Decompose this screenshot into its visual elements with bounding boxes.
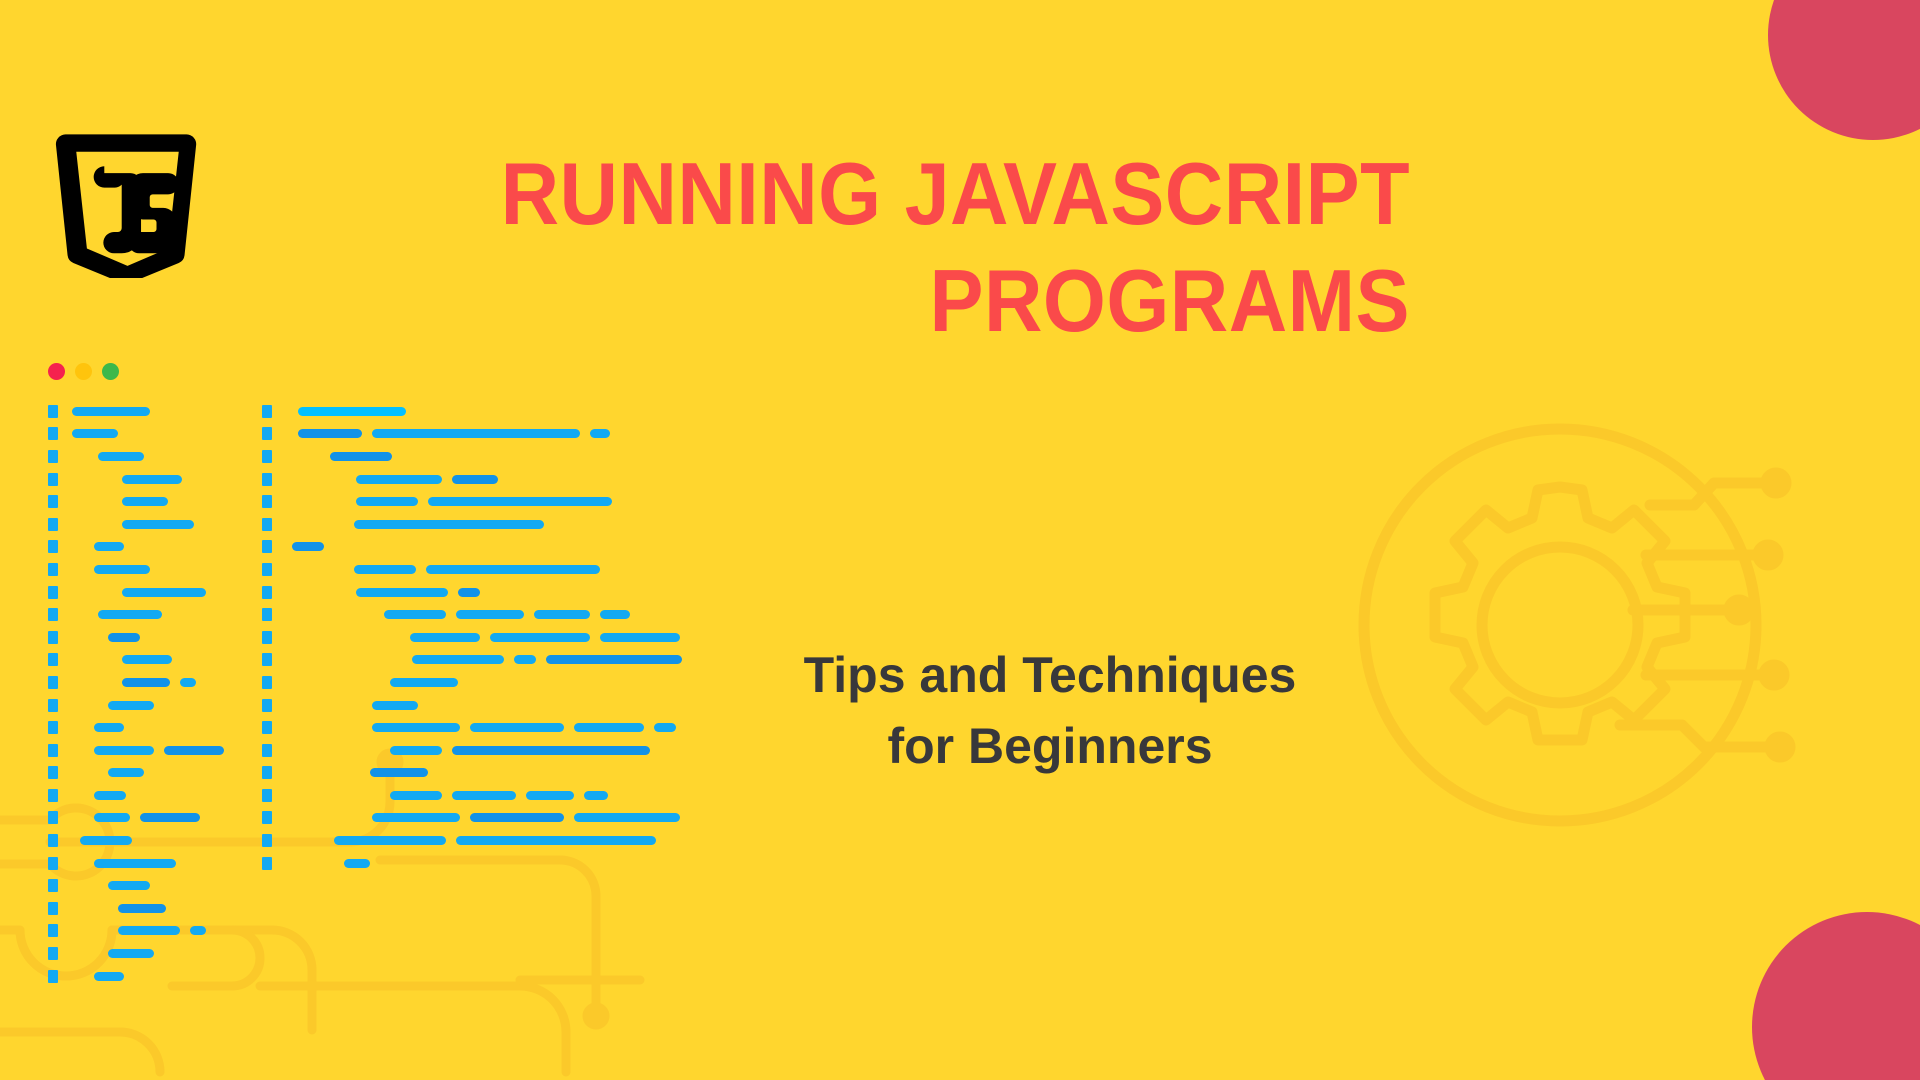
- line-number-tick: [48, 653, 58, 666]
- poster-canvas: RUNNING JAVASCRIPT PROGRAMS Tips and Tec…: [0, 0, 1920, 1080]
- close-dot: [48, 363, 65, 380]
- code-line: [48, 784, 268, 807]
- code-line: [48, 671, 268, 694]
- code-token: [370, 768, 428, 777]
- code-line: [262, 671, 732, 694]
- code-token: [356, 475, 442, 484]
- code-line: [262, 784, 732, 807]
- gear-circuit-watermark: [1350, 395, 1810, 855]
- code-line: [48, 513, 268, 536]
- code-token: [122, 475, 182, 484]
- code-line: [48, 965, 268, 988]
- code-token: [452, 746, 650, 755]
- code-line: [262, 626, 732, 649]
- line-number-tick: [262, 405, 272, 418]
- code-token: [98, 452, 144, 461]
- code-token: [298, 429, 362, 438]
- line-number-tick: [48, 879, 58, 892]
- code-line: [48, 874, 268, 897]
- code-token: [574, 723, 644, 732]
- line-number-tick: [262, 766, 272, 779]
- code-token: [470, 723, 564, 732]
- code-token: [654, 723, 676, 732]
- code-token: [526, 791, 574, 800]
- line-number-tick: [48, 766, 58, 779]
- line-number-tick: [262, 495, 272, 508]
- line-number-tick: [262, 857, 272, 870]
- code-token: [590, 429, 610, 438]
- code-line: [262, 400, 732, 423]
- line-number-tick: [262, 744, 272, 757]
- code-token: [122, 655, 172, 664]
- line-number-tick: [48, 947, 58, 960]
- code-token: [372, 813, 460, 822]
- line-number-tick: [48, 427, 58, 440]
- line-number-tick: [262, 699, 272, 712]
- line-number-tick: [48, 744, 58, 757]
- code-line: [48, 649, 268, 672]
- code-token: [94, 859, 176, 868]
- code-token: [334, 836, 446, 845]
- code-line: [262, 536, 732, 559]
- code-token: [390, 746, 442, 755]
- line-number-tick: [262, 518, 272, 531]
- code-token: [122, 678, 170, 687]
- code-token: [356, 497, 418, 506]
- title-line-2: PROGRAMS: [389, 247, 1410, 354]
- code-token: [94, 813, 130, 822]
- code-column-right: [262, 400, 732, 874]
- code-token: [292, 542, 324, 551]
- code-token: [574, 813, 680, 822]
- line-number-tick: [262, 834, 272, 847]
- top-right-circle: [1768, 0, 1920, 140]
- line-number-tick: [48, 699, 58, 712]
- code-line: [262, 490, 732, 513]
- line-number-tick: [48, 789, 58, 802]
- code-line: [262, 762, 732, 785]
- line-number-tick: [48, 495, 58, 508]
- code-token: [384, 610, 446, 619]
- subtitle-line-2: for Beginners: [700, 711, 1400, 782]
- poster-title: RUNNING JAVASCRIPT PROGRAMS: [300, 140, 1410, 355]
- code-token: [94, 542, 124, 551]
- code-token: [80, 836, 132, 845]
- code-token: [108, 881, 150, 890]
- line-number-tick: [48, 563, 58, 576]
- code-token: [354, 520, 544, 529]
- code-token: [426, 565, 600, 574]
- line-number-tick: [48, 473, 58, 486]
- code-token: [190, 926, 206, 935]
- code-token: [94, 746, 154, 755]
- code-line: [48, 603, 268, 626]
- code-line: [48, 490, 268, 513]
- code-token: [456, 610, 524, 619]
- line-number-tick: [262, 721, 272, 734]
- maximize-dot: [102, 363, 119, 380]
- line-number-tick: [262, 608, 272, 621]
- code-token: [330, 452, 392, 461]
- line-number-tick: [262, 811, 272, 824]
- code-token: [122, 588, 206, 597]
- line-number-tick: [262, 789, 272, 802]
- code-token: [344, 859, 370, 868]
- code-token: [180, 678, 196, 687]
- code-line: [48, 716, 268, 739]
- code-line: [48, 423, 268, 446]
- code-line: [48, 852, 268, 875]
- code-line: [48, 400, 268, 423]
- line-number-tick: [48, 834, 58, 847]
- line-number-tick: [48, 970, 58, 983]
- code-illustration: [40, 355, 740, 845]
- code-line: [262, 829, 732, 852]
- code-line: [262, 558, 732, 581]
- code-token: [140, 813, 200, 822]
- code-token: [452, 475, 498, 484]
- code-line: [262, 649, 732, 672]
- code-line: [48, 739, 268, 762]
- minimize-dot: [75, 363, 92, 380]
- code-token: [428, 497, 612, 506]
- code-token: [354, 565, 416, 574]
- line-number-tick: [48, 676, 58, 689]
- code-token: [94, 723, 124, 732]
- code-line: [262, 513, 732, 536]
- code-line: [48, 897, 268, 920]
- code-token: [410, 633, 480, 642]
- code-token: [94, 791, 126, 800]
- line-number-tick: [262, 563, 272, 576]
- code-token: [108, 949, 154, 958]
- code-token: [94, 565, 150, 574]
- code-token: [108, 633, 140, 642]
- line-number-tick: [48, 857, 58, 870]
- code-token: [600, 610, 630, 619]
- code-token: [412, 655, 504, 664]
- line-number-tick: [262, 473, 272, 486]
- code-token: [108, 701, 154, 710]
- line-number-tick: [48, 631, 58, 644]
- code-line: [262, 423, 732, 446]
- code-token: [458, 588, 480, 597]
- line-number-tick: [262, 631, 272, 644]
- code-token: [98, 610, 162, 619]
- line-number-tick: [262, 586, 272, 599]
- line-number-tick: [262, 540, 272, 553]
- code-line: [48, 920, 268, 943]
- line-number-tick: [48, 586, 58, 599]
- code-token: [372, 429, 580, 438]
- code-token: [534, 610, 590, 619]
- code-token: [356, 588, 448, 597]
- code-token: [456, 836, 656, 845]
- line-number-tick: [48, 518, 58, 531]
- code-token: [390, 678, 458, 687]
- code-line: [48, 694, 268, 717]
- code-line: [48, 445, 268, 468]
- code-token: [122, 520, 194, 529]
- code-token: [164, 746, 224, 755]
- code-line: [48, 581, 268, 604]
- code-token: [390, 791, 442, 800]
- code-line: [48, 468, 268, 491]
- code-column-left: [48, 400, 268, 987]
- line-number-tick: [48, 811, 58, 824]
- code-token: [72, 407, 150, 416]
- line-number-tick: [48, 721, 58, 734]
- code-line: [262, 716, 732, 739]
- line-number-tick: [48, 450, 58, 463]
- code-token: [584, 791, 608, 800]
- code-token: [600, 633, 680, 642]
- code-token: [122, 497, 168, 506]
- code-token: [372, 701, 418, 710]
- subtitle-line-1: Tips and Techniques: [700, 640, 1400, 711]
- code-line: [48, 807, 268, 830]
- code-line: [262, 807, 732, 830]
- line-number-tick: [48, 608, 58, 621]
- code-token: [298, 407, 406, 416]
- poster-subtitle: Tips and Techniques for Beginners: [700, 640, 1400, 782]
- code-line: [48, 829, 268, 852]
- line-number-tick: [262, 676, 272, 689]
- code-line: [262, 581, 732, 604]
- code-line: [262, 694, 732, 717]
- code-token: [94, 972, 124, 981]
- code-token: [452, 791, 516, 800]
- bottom-right-circle: [1752, 912, 1920, 1080]
- code-line: [262, 468, 732, 491]
- code-line: [48, 626, 268, 649]
- line-number-tick: [262, 653, 272, 666]
- code-token: [72, 429, 118, 438]
- code-token: [118, 904, 166, 913]
- line-number-tick: [48, 902, 58, 915]
- line-number-tick: [48, 540, 58, 553]
- code-token: [470, 813, 564, 822]
- line-number-tick: [262, 450, 272, 463]
- line-number-tick: [262, 427, 272, 440]
- code-line: [262, 445, 732, 468]
- code-line: [262, 852, 732, 875]
- title-line-1: RUNNING JAVASCRIPT: [389, 140, 1410, 247]
- code-line: [262, 603, 732, 626]
- code-line: [48, 942, 268, 965]
- line-number-tick: [48, 405, 58, 418]
- code-line: [48, 536, 268, 559]
- code-token: [546, 655, 682, 664]
- code-token: [372, 723, 460, 732]
- window-traffic-lights: [48, 363, 119, 380]
- code-line: [262, 739, 732, 762]
- code-line: [48, 558, 268, 581]
- code-line: [48, 762, 268, 785]
- code-token: [118, 926, 180, 935]
- code-token: [514, 655, 536, 664]
- line-number-tick: [48, 924, 58, 937]
- javascript-logo: [55, 130, 200, 278]
- code-token: [490, 633, 590, 642]
- code-token: [108, 768, 144, 777]
